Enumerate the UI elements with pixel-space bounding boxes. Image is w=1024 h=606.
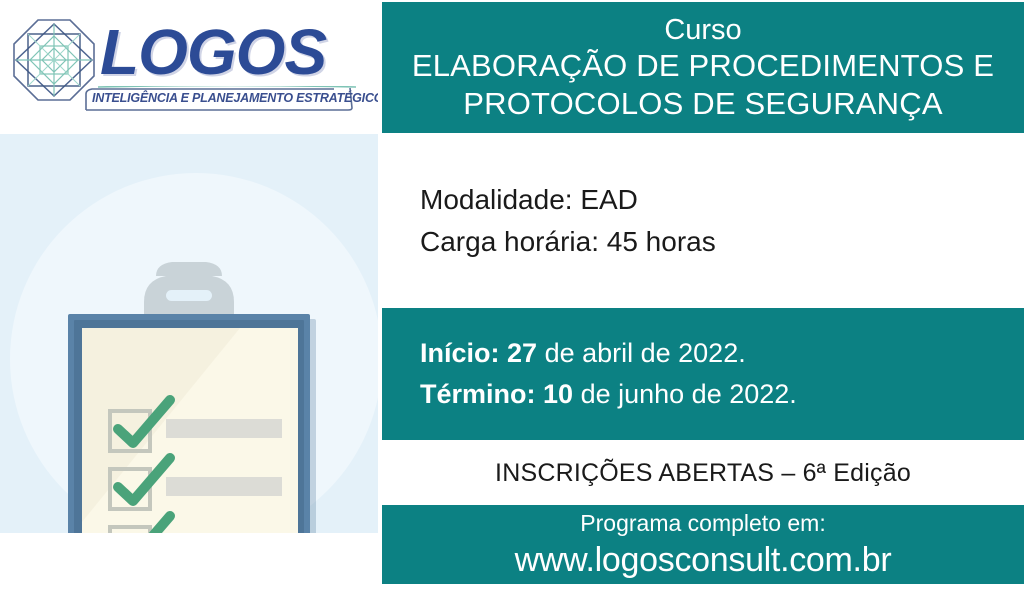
course-promo-poster: LOGOS INTELIGÊNCIA E PLANEJAMENTO ESTRAT… <box>0 0 1024 606</box>
brand-wordmark: LOGOS <box>100 16 358 88</box>
clipboard-checklist-illustration <box>0 134 378 533</box>
brand-tagline-wrap: INTELIGÊNCIA E PLANEJAMENTO ESTRATÉGICO <box>84 86 358 112</box>
end-date-line: Término: 10 de junho de 2022. <box>420 374 1024 415</box>
start-date-day: 27 <box>507 338 537 368</box>
course-title-line-2: PROTOCOLOS DE SEGURANÇA <box>463 85 942 123</box>
course-title-band: Curso ELABORAÇÃO DE PROCEDIMENTOS E PROT… <box>382 2 1024 133</box>
brand-tagline: INTELIGÊNCIA E PLANEJAMENTO ESTRATÉGICO <box>92 91 378 105</box>
website-url[interactable]: www.logosconsult.com.br <box>515 538 892 582</box>
enrollment-band: INSCRIÇÕES ABERTAS – 6ª Edição <box>382 443 1024 503</box>
course-info-band: Modalidade: EAD Carga horária: 45 horas <box>382 137 1024 304</box>
course-kicker: Curso <box>664 13 741 47</box>
modality-line: Modalidade: EAD <box>420 179 1024 221</box>
end-date-label: Término: <box>420 379 536 409</box>
right-column: Curso ELABORAÇÃO DE PROCEDIMENTOS E PROT… <box>382 0 1024 606</box>
end-date-day: 10 <box>543 379 573 409</box>
enrollment-status-text: INSCRIÇÕES ABERTAS – 6ª Edição <box>495 459 911 488</box>
brand-logo-band: LOGOS INTELIGÊNCIA E PLANEJAMENTO ESTRAT… <box>0 0 378 133</box>
start-date-label: Início: <box>420 338 500 368</box>
course-dates-band: Início: 27 de abril de 2022. Término: 10… <box>382 308 1024 440</box>
start-date-rest: de abril de 2022. <box>537 338 746 368</box>
workload-line: Carga horária: 45 horas <box>420 221 1024 263</box>
footer-band: Programa completo em: www.logosconsult.c… <box>382 505 1024 584</box>
start-date-line: Início: 27 de abril de 2022. <box>420 333 1024 374</box>
brand-name: LOGOS <box>100 16 358 88</box>
footer-label: Programa completo em: <box>580 508 825 538</box>
end-date-rest: de junho de 2022. <box>573 379 797 409</box>
course-title-line-1: ELABORAÇÃO DE PROCEDIMENTOS E <box>412 47 994 85</box>
left-column: LOGOS INTELIGÊNCIA E PLANEJAMENTO ESTRAT… <box>0 0 378 606</box>
